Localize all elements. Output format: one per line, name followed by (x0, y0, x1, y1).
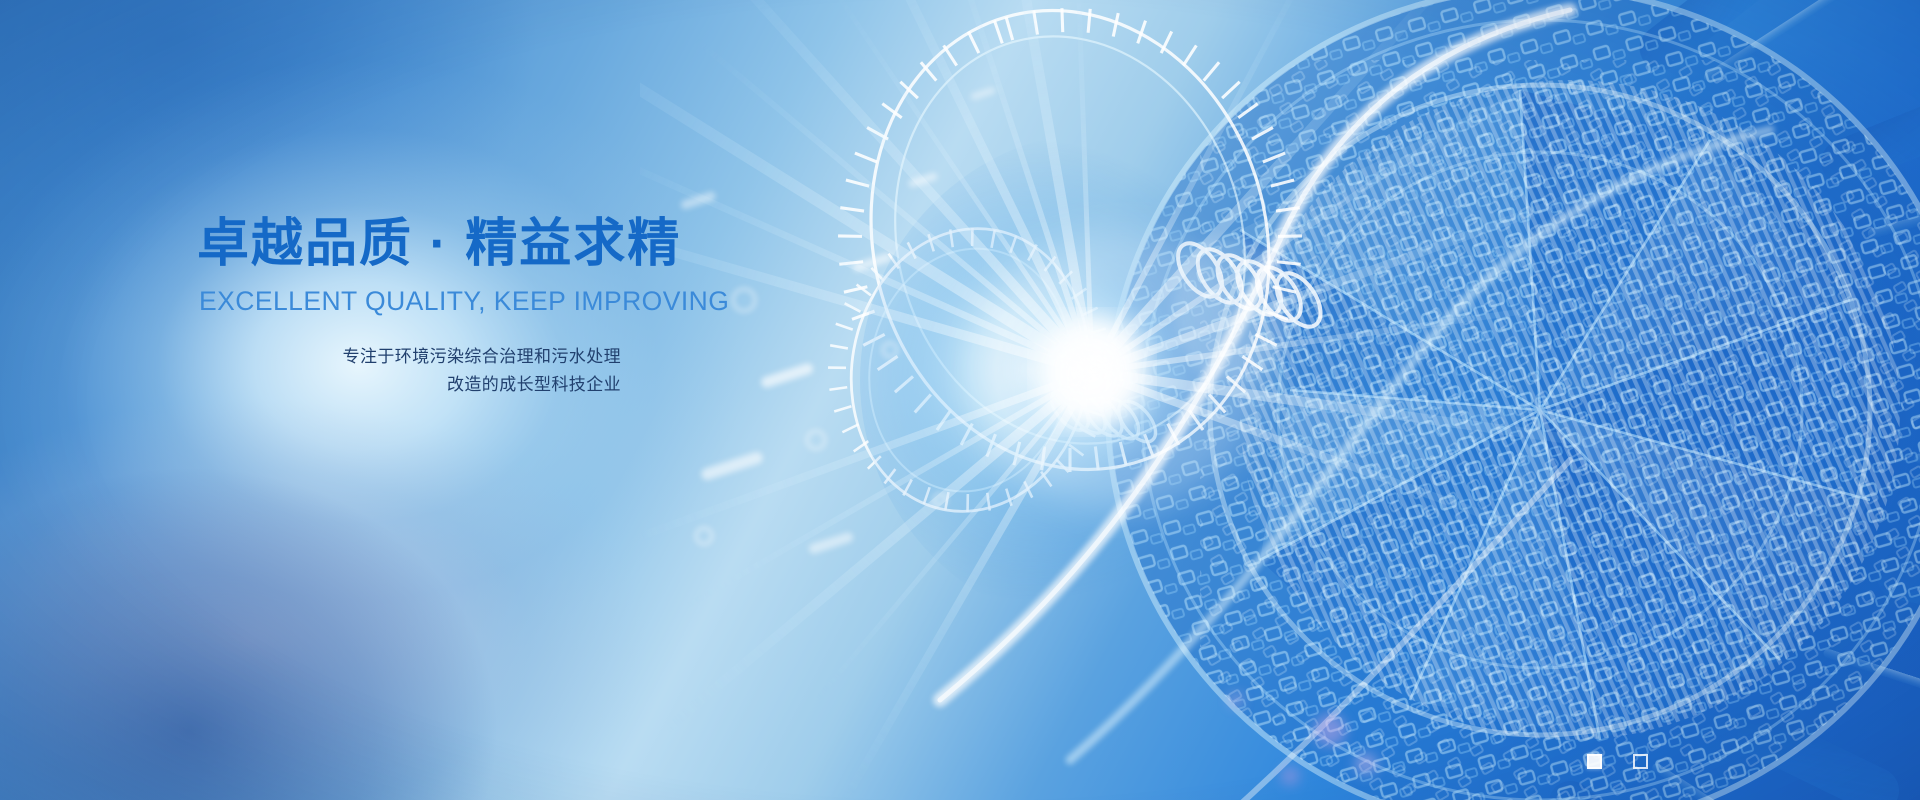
background-corner-bottom-left (0, 380, 600, 800)
banner-description: 专注于环境污染综合治理和污水处理 改造的成长型科技企业 (197, 343, 621, 398)
banner-copy: 卓越品质 · 精益求精 EXCELLENT QUALITY, KEEP IMPR… (197, 218, 627, 398)
carousel-pagination[interactable] (1587, 754, 1648, 769)
turbine-technology-graphic (640, 0, 1920, 800)
banner-subheadline: EXCELLENT QUALITY, KEEP IMPROVING (199, 286, 627, 317)
pagination-dot-1[interactable] (1587, 754, 1602, 769)
banner-description-line-2: 改造的成长型科技企业 (197, 371, 621, 399)
hero-banner: 卓越品质 · 精益求精 EXCELLENT QUALITY, KEEP IMPR… (0, 0, 1920, 800)
pagination-dot-2[interactable] (1633, 754, 1648, 769)
banner-description-line-1: 专注于环境污染综合治理和污水处理 (197, 343, 621, 371)
banner-headline: 卓越品质 · 精益求精 (197, 218, 627, 270)
